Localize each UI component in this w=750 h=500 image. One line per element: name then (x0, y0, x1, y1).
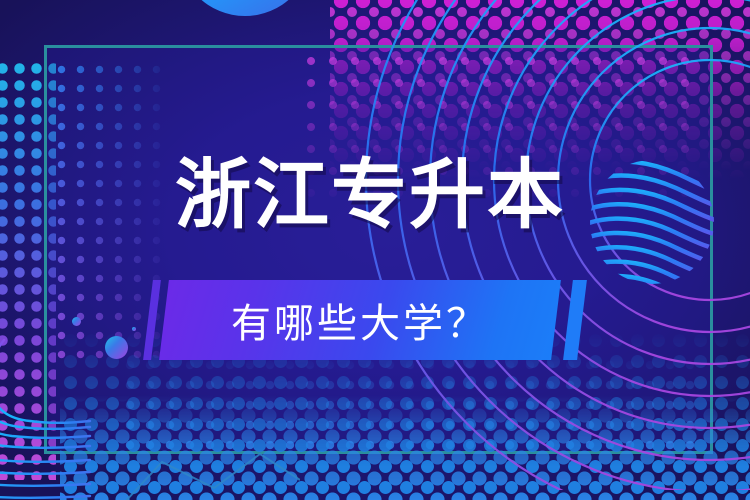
poster-banner: 浙江专升本 有哪些大学？ (0, 0, 750, 500)
sphere-decoration-large (105, 336, 128, 359)
subtitle-text: 有哪些大学？ (164, 280, 556, 360)
fingerprint-ball-decoration (582, 152, 722, 292)
sphere-decoration-small (132, 327, 136, 331)
banner-right-accent-bar (563, 280, 587, 360)
subtitle-banner: 有哪些大学？ (140, 280, 620, 360)
outline-polygon-decoration (110, 440, 300, 500)
sphere-decoration-medium (72, 317, 81, 326)
banner-left-accent-bar (143, 280, 161, 360)
page-title: 浙江专升本 (175, 158, 565, 234)
